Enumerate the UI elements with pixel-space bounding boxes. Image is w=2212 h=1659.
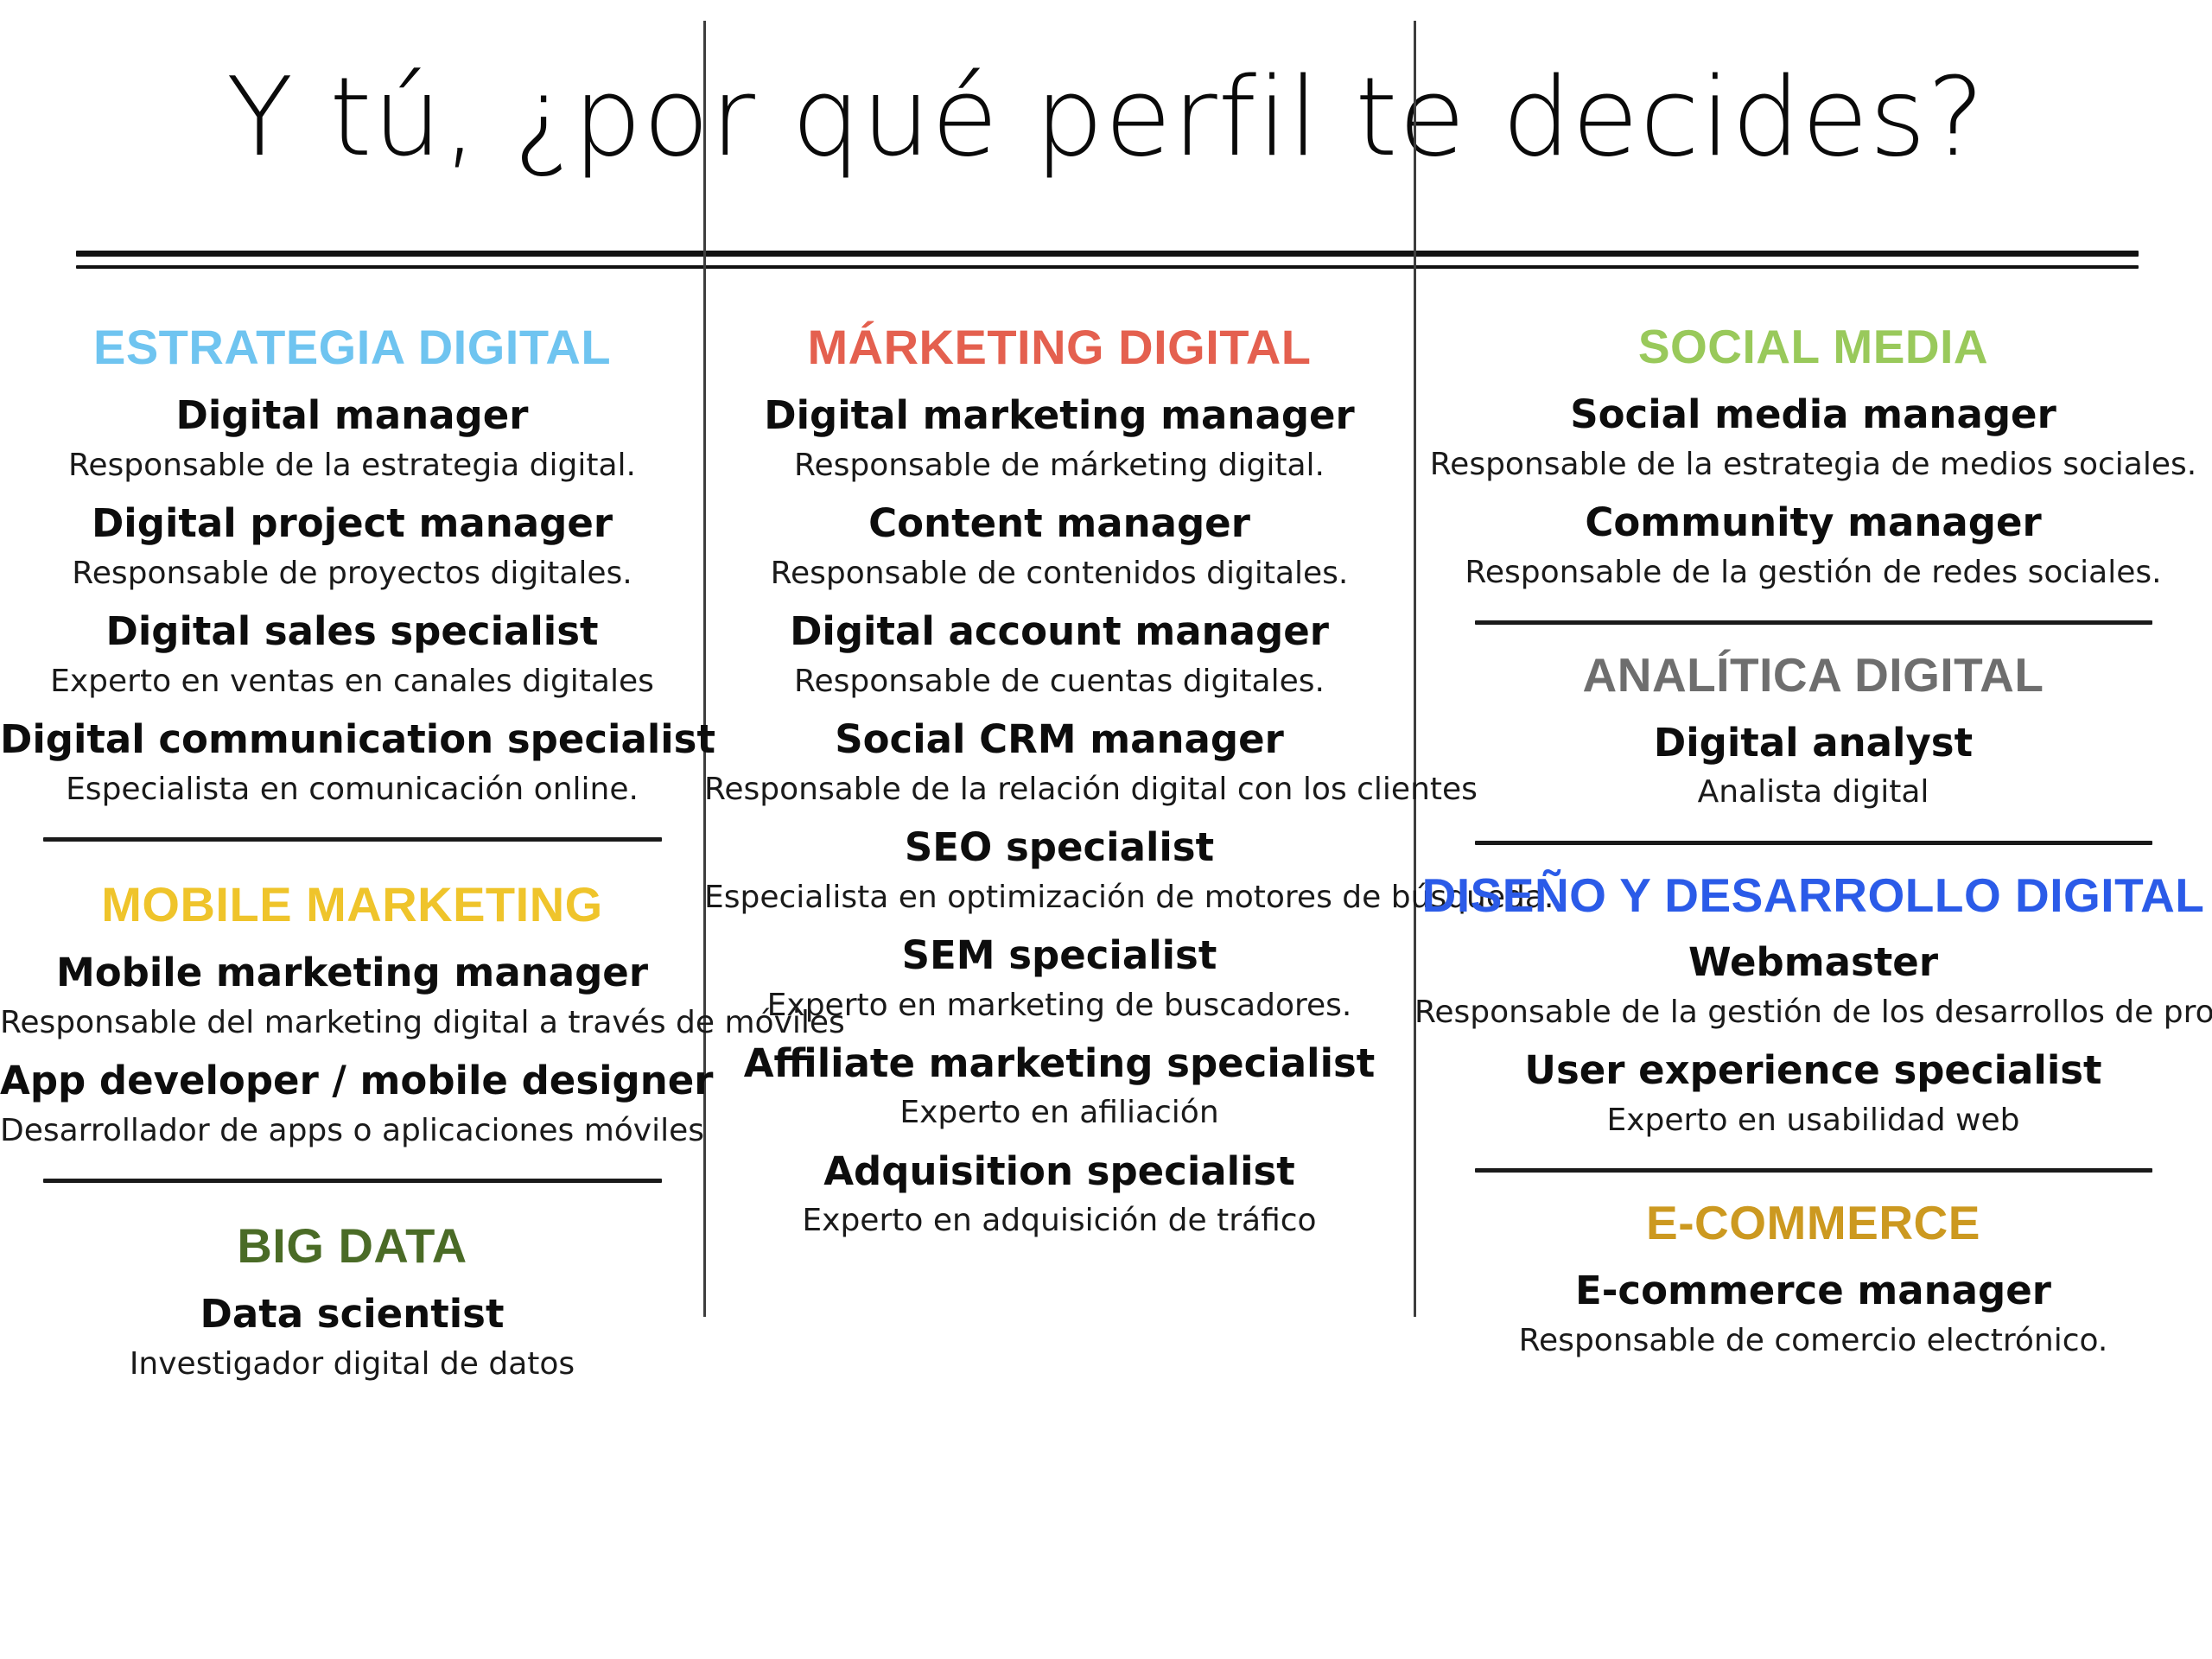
entry-adquisition-specialist: Adquisition specialist Experto en adquis… [704, 1149, 1414, 1240]
entry-description: Especialista en optimización de motores … [704, 879, 1414, 916]
entry-title: Digital manager [0, 393, 704, 438]
entry-title: App developer / mobile designer [0, 1058, 704, 1103]
entry-sem-specialist: SEM specialist Experto en marketing de b… [704, 933, 1414, 1024]
entry-title: Digital account manager [704, 609, 1414, 654]
entry-digital-marketing-manager: Digital marketing manager Responsable de… [704, 393, 1414, 484]
spacer [0, 1183, 704, 1217]
entry-description: Responsable de márketing digital. [704, 447, 1414, 484]
spacer [1414, 625, 2212, 647]
entry-title: Community manager [1414, 500, 2212, 545]
entry-description: Responsable de la relación digital con l… [704, 771, 1414, 808]
entry-description: Investigador digital de datos [0, 1345, 704, 1382]
column-middle: MÁRKETING DIGITAL Digital marketing mana… [704, 307, 1414, 1659]
entry-affiliate-marketing-specialist: Affiliate marketing specialist Experto e… [704, 1041, 1414, 1132]
entry-data-scientist: Data scientist Investigador digital de d… [0, 1292, 704, 1382]
section-heading-estrategia-digital: ESTRATEGIA DIGITAL [0, 319, 704, 376]
entry-description: Responsable de contenidos digitales. [704, 555, 1414, 592]
entry-description: Analista digital [1414, 773, 2212, 810]
entry-title: SEO specialist [704, 825, 1414, 870]
section-heading-diseno-desarrollo-digital: DISEÑO Y DESARROLLO DIGITAL [1414, 868, 2212, 924]
section-heading-e-commerce: E-COMMERCE [1414, 1195, 2212, 1251]
entry-title: Digital project manager [0, 501, 704, 546]
entry-description: Experto en ventas en canales digitales [0, 663, 704, 700]
entry-content-manager: Content manager Responsable de contenido… [704, 501, 1414, 592]
entry-description: Responsable de la gestión de los desarro… [1414, 994, 2212, 1031]
entry-mobile-marketing-manager: Mobile marketing manager Responsable del… [0, 950, 704, 1041]
entry-user-experience-specialist: User experience specialist Experto en us… [1414, 1048, 2212, 1139]
entry-title: SEM specialist [704, 933, 1414, 978]
entry-description: Responsable de cuentas digitales. [704, 663, 1414, 700]
entry-webmaster: Webmaster Responsable de la gestión de l… [1414, 940, 2212, 1031]
entry-social-crm-manager: Social CRM manager Responsable de la rel… [704, 717, 1414, 808]
section-heading-marketing-digital: MÁRKETING DIGITAL [704, 319, 1414, 376]
section-mobile-marketing: MOBILE MARKETING Mobile marketing manage… [0, 876, 704, 1183]
section-heading-social-media: SOCIAL MEDIA [1414, 319, 2212, 375]
entry-title: Digital marketing manager [704, 393, 1414, 438]
entry-title: E-commerce manager [1414, 1268, 2212, 1313]
columns-container: ESTRATEGIA DIGITAL Digital manager Respo… [0, 307, 2212, 1659]
entry-title: Affiliate marketing specialist [704, 1041, 1414, 1086]
entry-description: Especialista en comunicación online. [0, 771, 704, 808]
entry-seo-specialist: SEO specialist Especialista en optimizac… [704, 825, 1414, 916]
entry-title: Adquisition specialist [704, 1149, 1414, 1194]
title-divider-line-top [76, 251, 2139, 257]
page-title: Y tú, ¿por qué perfil te decides? [0, 60, 2212, 175]
entry-digital-analyst: Digital analyst Analista digital [1414, 721, 2212, 811]
title-divider-line-bottom [76, 265, 2139, 269]
entry-app-developer-mobile-designer: App developer / mobile designer Desarrol… [0, 1058, 704, 1149]
spacer [1414, 845, 2212, 868]
section-marketing-digital: MÁRKETING DIGITAL Digital marketing mana… [704, 319, 1414, 1240]
entry-digital-manager: Digital manager Responsable de la estrat… [0, 393, 704, 484]
entry-digital-account-manager: Digital account manager Responsable de c… [704, 609, 1414, 700]
section-heading-mobile-marketing: MOBILE MARKETING [0, 876, 704, 933]
entry-description: Desarrollador de apps o aplicaciones móv… [0, 1112, 704, 1149]
entry-description: Responsable de comercio electrónico. [1414, 1322, 2212, 1359]
entry-title: Digital communication specialist [0, 717, 704, 762]
section-e-commerce: E-COMMERCE E-commerce manager Responsabl… [1414, 1195, 2212, 1359]
section-estrategia-digital: ESTRATEGIA DIGITAL Digital manager Respo… [0, 319, 704, 842]
entry-title: Digital analyst [1414, 721, 2212, 766]
entry-e-commerce-manager: E-commerce manager Responsable de comerc… [1414, 1268, 2212, 1359]
entry-digital-communication-specialist: Digital communication specialist Especia… [0, 717, 704, 808]
column-right: SOCIAL MEDIA Social media manager Respon… [1414, 307, 2212, 1659]
entry-title: Mobile marketing manager [0, 950, 704, 995]
entry-description: Responsable de la estrategia digital. [0, 447, 704, 484]
entry-title: User experience specialist [1414, 1048, 2212, 1093]
entry-title: Webmaster [1414, 940, 2212, 985]
entry-digital-project-manager: Digital project manager Responsable de p… [0, 501, 704, 592]
title-divider [76, 251, 2139, 269]
entry-description: Experto en adquisición de tráfico [704, 1202, 1414, 1239]
entry-description: Responsable de proyectos digitales. [0, 555, 704, 592]
spacer [1414, 1173, 2212, 1195]
section-diseno-desarrollo-digital: DISEÑO Y DESARROLLO DIGITAL Webmaster Re… [1414, 868, 2212, 1173]
entry-community-manager: Community manager Responsable de la gest… [1414, 500, 2212, 591]
infographic-poster: Y tú, ¿por qué perfil te decides? ESTRAT… [0, 0, 2212, 1659]
entry-title: Content manager [704, 501, 1414, 546]
entry-description: Experto en afiliación [704, 1094, 1414, 1131]
section-heading-big-data: BIG DATA [0, 1217, 704, 1274]
section-heading-analitica-digital: ANALÍTICA DIGITAL [1414, 647, 2212, 703]
section-big-data: BIG DATA Data scientist Investigador dig… [0, 1217, 704, 1382]
entry-social-media-manager: Social media manager Responsable de la e… [1414, 392, 2212, 483]
entry-description: Responsable de la gestión de redes socia… [1414, 554, 2212, 591]
title-block: Y tú, ¿por qué perfil te decides? [0, 60, 2212, 175]
entry-description: Responsable del marketing digital a trav… [0, 1004, 704, 1041]
entry-description: Experto en usabilidad web [1414, 1102, 2212, 1139]
entry-title: Digital sales specialist [0, 609, 704, 654]
entry-title: Data scientist [0, 1292, 704, 1337]
column-left: ESTRATEGIA DIGITAL Digital manager Respo… [0, 307, 704, 1659]
entry-title: Social media manager [1414, 392, 2212, 437]
entry-title: Social CRM manager [704, 717, 1414, 762]
entry-description: Experto en marketing de buscadores. [704, 987, 1414, 1024]
entry-digital-sales-specialist: Digital sales specialist Experto en vent… [0, 609, 704, 700]
spacer [0, 842, 704, 876]
entry-description: Responsable de la estrategia de medios s… [1414, 446, 2212, 483]
section-analitica-digital: ANALÍTICA DIGITAL Digital analyst Analis… [1414, 647, 2212, 845]
section-social-media: SOCIAL MEDIA Social media manager Respon… [1414, 319, 2212, 625]
